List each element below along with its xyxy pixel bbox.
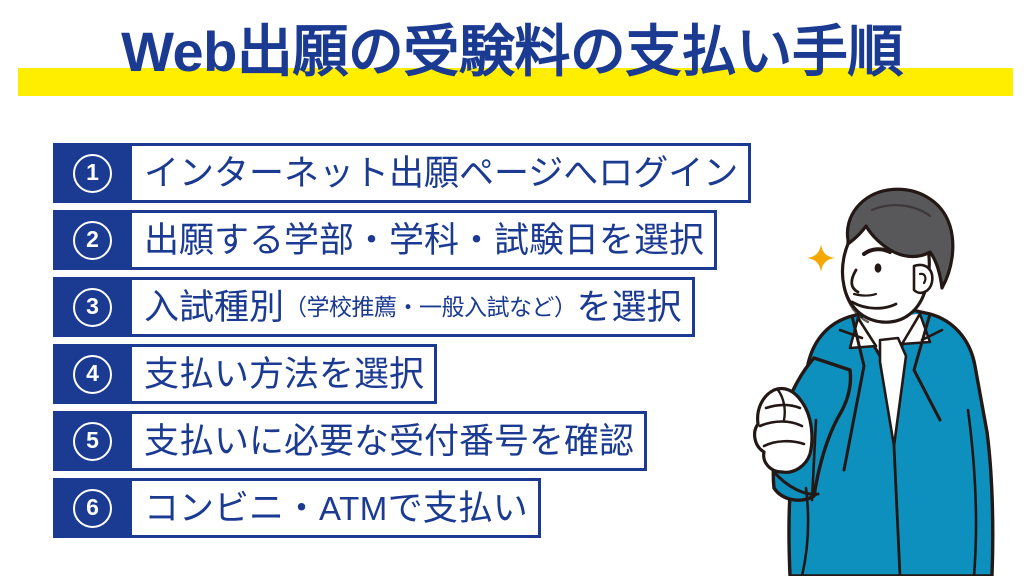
step-badge-5: 5 (53, 411, 132, 471)
step-label-2-text: 出願する学部・学科・試験日を選択 (144, 223, 704, 258)
step-label-6-text-part2: で支払い (388, 491, 528, 526)
step-label-6-text-part1: コンビニ・ (144, 491, 319, 526)
step-number-5: 5 (73, 422, 112, 461)
page-header: Web出願の受験料の支払い手順 (0, 0, 1024, 118)
step-label-1-text: インターネット出願ページへログイン (144, 156, 738, 191)
step-number-6: 6 (73, 489, 112, 528)
step-badge-1: 1 (53, 143, 132, 203)
step-row-2[interactable]: 2 出願する学部・学科・試験日を選択 (53, 210, 813, 270)
step-label-6-text-atm: ATM (319, 492, 388, 525)
step-number-1: 1 (73, 154, 112, 193)
step-row-3[interactable]: 3 入試種別（学校推薦・一般入試など）を選択 (53, 277, 813, 337)
step-row-4[interactable]: 4 支払い方法を選択 (53, 344, 813, 404)
steps-list: 1 インターネット出願ページへログイン 2 出願する学部・学科・試験日を選択 3… (53, 143, 813, 545)
step-number-2: 2 (73, 221, 112, 260)
step-label-3: 入試種別（学校推薦・一般入試など）を選択 (132, 277, 695, 337)
step-label-3-text-sub: （学校推薦・一般入試など） (284, 296, 577, 319)
step-row-6[interactable]: 6 コンビニ・ATM で支払い (53, 478, 813, 538)
sparkle-star-icon (806, 243, 836, 273)
step-label-4: 支払い方法を選択 (132, 344, 437, 404)
step-number-3: 3 (73, 288, 112, 327)
step-label-5: 支払いに必要な受付番号を確認 (132, 411, 647, 471)
step-label-5-text: 支払いに必要な受付番号を確認 (144, 424, 634, 459)
step-label-2: 出願する学部・学科・試験日を選択 (132, 210, 717, 270)
step-badge-4: 4 (53, 344, 132, 404)
step-label-4-text: 支払い方法を選択 (144, 357, 424, 392)
step-label-6: コンビニ・ATM で支払い (132, 478, 541, 538)
step-label-1: インターネット出願ページへログイン (132, 143, 751, 203)
step-label-3-text-part2: を選択 (577, 290, 682, 325)
step-label-3-text-part1: 入試種別 (144, 290, 284, 325)
step-badge-6: 6 (53, 478, 132, 538)
step-number-4: 4 (73, 355, 112, 394)
step-badge-3: 3 (53, 277, 132, 337)
page-title: Web出願の受験料の支払い手順 (0, 16, 1024, 88)
step-badge-2: 2 (53, 210, 132, 270)
step-row-5[interactable]: 5 支払いに必要な受付番号を確認 (53, 411, 813, 471)
step-row-1[interactable]: 1 インターネット出願ページへログイン (53, 143, 813, 203)
